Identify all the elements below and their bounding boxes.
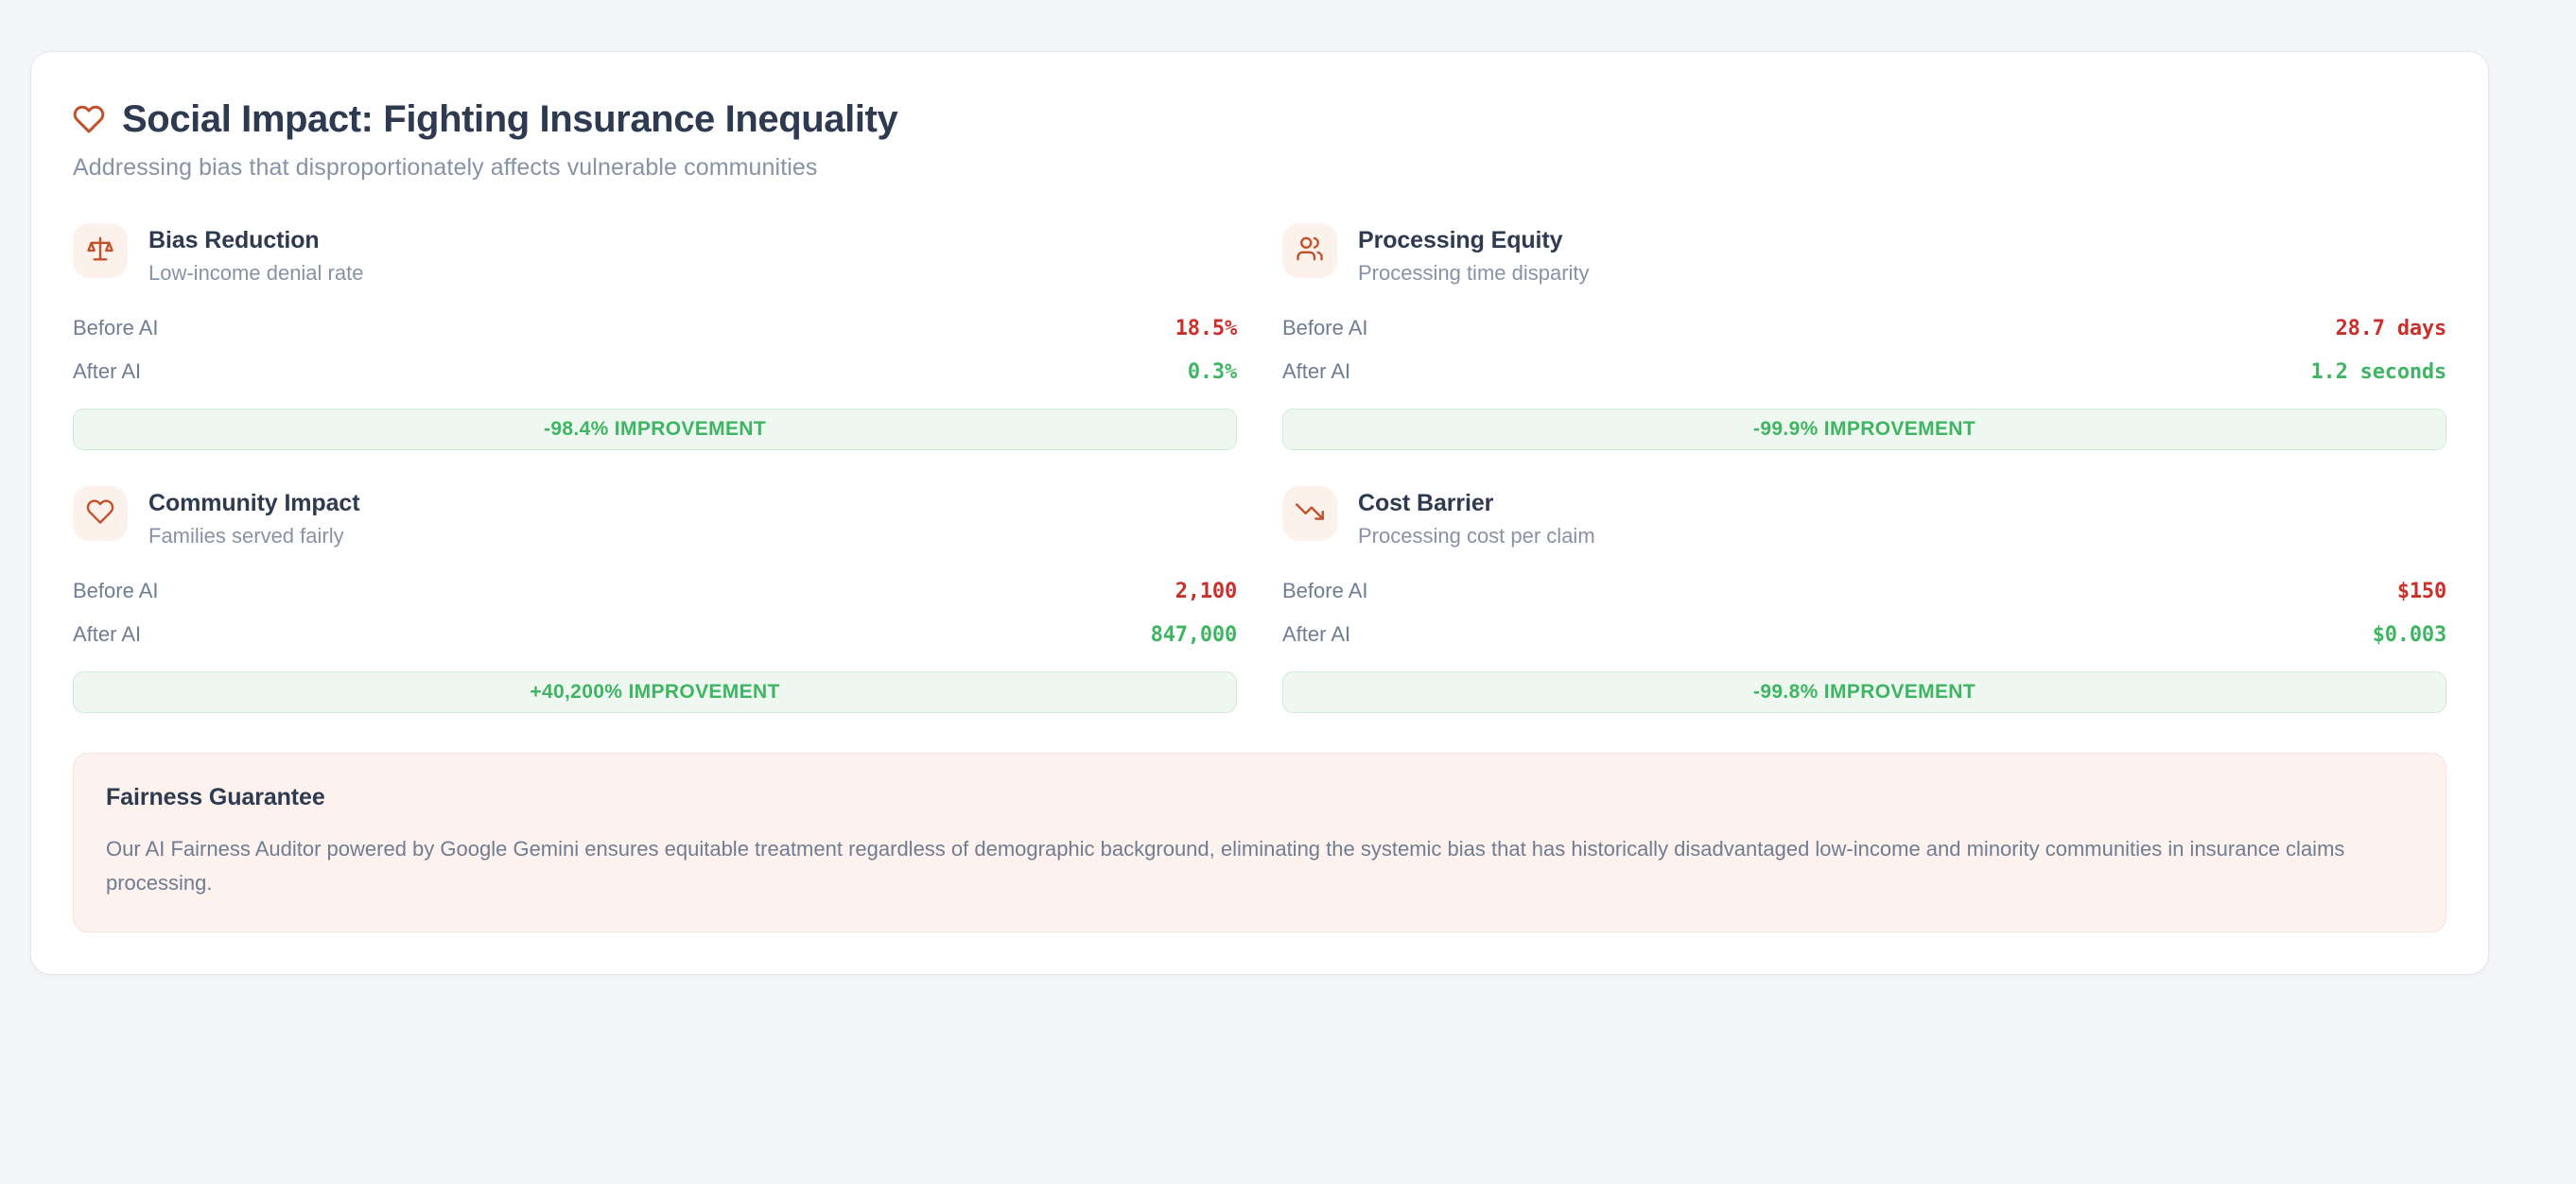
before-label: Before AI <box>73 579 159 603</box>
improvement-badge: -99.9% IMPROVEMENT <box>1282 409 2446 450</box>
metric-row-before: Before AI 2,100 <box>73 573 1237 609</box>
metric-row-after: After AI 847,000 <box>73 617 1237 653</box>
metric-card-community-impact: Community Impact Families served fairly … <box>73 486 1237 713</box>
after-label: After AI <box>73 622 141 647</box>
improvement-badge: +40,200% IMPROVEMENT <box>73 671 1237 713</box>
page-root: Social Impact: Fighting Insurance Inequa… <box>0 0 2576 1184</box>
after-value: 847,000 <box>1151 623 1237 647</box>
metric-header: Processing Equity Processing time dispar… <box>1282 223 2446 286</box>
fairness-guarantee-callout: Fairness Guarantee Our AI Fairness Audit… <box>73 753 2446 932</box>
trending-down-icon <box>1296 497 1324 531</box>
metric-card-cost-barrier: Cost Barrier Processing cost per claim B… <box>1282 486 2446 713</box>
panel-subtitle: Addressing bias that disproportionately … <box>73 154 2446 182</box>
after-value: 0.3% <box>1188 360 1237 384</box>
metric-heading-group: Community Impact Families served fairly <box>148 486 359 548</box>
before-value: 18.5% <box>1175 317 1237 340</box>
metric-header: Bias Reduction Low-income denial rate <box>73 223 1237 286</box>
metric-card-bias-reduction: Bias Reduction Low-income denial rate Be… <box>73 223 1237 450</box>
icon-tile <box>1282 223 1337 278</box>
scales-icon <box>86 235 114 268</box>
metric-subtitle: Processing cost per claim <box>1358 524 1595 548</box>
metric-row-before: Before AI 28.7 days <box>1282 310 2446 346</box>
social-impact-panel: Social Impact: Fighting Insurance Inequa… <box>30 51 2489 975</box>
fairness-guarantee-body: Our AI Fairness Auditor powered by Googl… <box>106 832 2413 899</box>
metric-header: Community Impact Families served fairly <box>73 486 1237 548</box>
page-title: Social Impact: Fighting Insurance Inequa… <box>122 97 897 141</box>
metric-subtitle: Families served fairly <box>148 524 359 548</box>
icon-tile <box>73 223 128 278</box>
metric-row-after: After AI 1.2 seconds <box>1282 354 2446 390</box>
metric-row-before: Before AI $150 <box>1282 573 2446 609</box>
before-value: 28.7 days <box>2336 317 2446 340</box>
metric-heading-group: Processing Equity Processing time dispar… <box>1358 223 1590 286</box>
before-value: $150 <box>2397 580 2446 603</box>
metric-heading-group: Cost Barrier Processing cost per claim <box>1358 486 1595 548</box>
heart-icon <box>86 497 114 531</box>
after-value: $0.003 <box>2373 623 2446 647</box>
panel-header: Social Impact: Fighting Insurance Inequa… <box>73 97 2446 182</box>
before-label: Before AI <box>1282 316 1368 340</box>
icon-tile <box>73 486 128 541</box>
metric-title: Community Impact <box>148 489 359 517</box>
metric-title: Bias Reduction <box>148 226 363 254</box>
before-label: Before AI <box>73 316 159 340</box>
improvement-badge: -99.8% IMPROVEMENT <box>1282 671 2446 713</box>
after-label: After AI <box>1282 622 1350 647</box>
metric-row-after: After AI 0.3% <box>73 354 1237 390</box>
title-row: Social Impact: Fighting Insurance Inequa… <box>73 97 2446 141</box>
metric-header: Cost Barrier Processing cost per claim <box>1282 486 2446 548</box>
metric-subtitle: Processing time disparity <box>1358 261 1590 286</box>
users-icon <box>1296 235 1324 268</box>
improvement-badge: -98.4% IMPROVEMENT <box>73 409 1237 450</box>
metric-row-after: After AI $0.003 <box>1282 617 2446 653</box>
metric-title: Cost Barrier <box>1358 489 1595 517</box>
icon-tile <box>1282 486 1337 541</box>
before-value: 2,100 <box>1175 580 1237 603</box>
after-label: After AI <box>1282 359 1350 384</box>
before-label: Before AI <box>1282 579 1368 603</box>
metric-subtitle: Low-income denial rate <box>148 261 363 286</box>
metric-heading-group: Bias Reduction Low-income denial rate <box>148 223 363 286</box>
fairness-guarantee-title: Fairness Guarantee <box>106 784 2413 811</box>
metric-title: Processing Equity <box>1358 226 1590 254</box>
metric-grid: Bias Reduction Low-income denial rate Be… <box>73 223 2446 713</box>
heart-icon <box>73 103 105 135</box>
after-value: 1.2 seconds <box>2311 360 2447 384</box>
metric-row-before: Before AI 18.5% <box>73 310 1237 346</box>
after-label: After AI <box>73 359 141 384</box>
metric-card-processing-equity: Processing Equity Processing time dispar… <box>1282 223 2446 450</box>
